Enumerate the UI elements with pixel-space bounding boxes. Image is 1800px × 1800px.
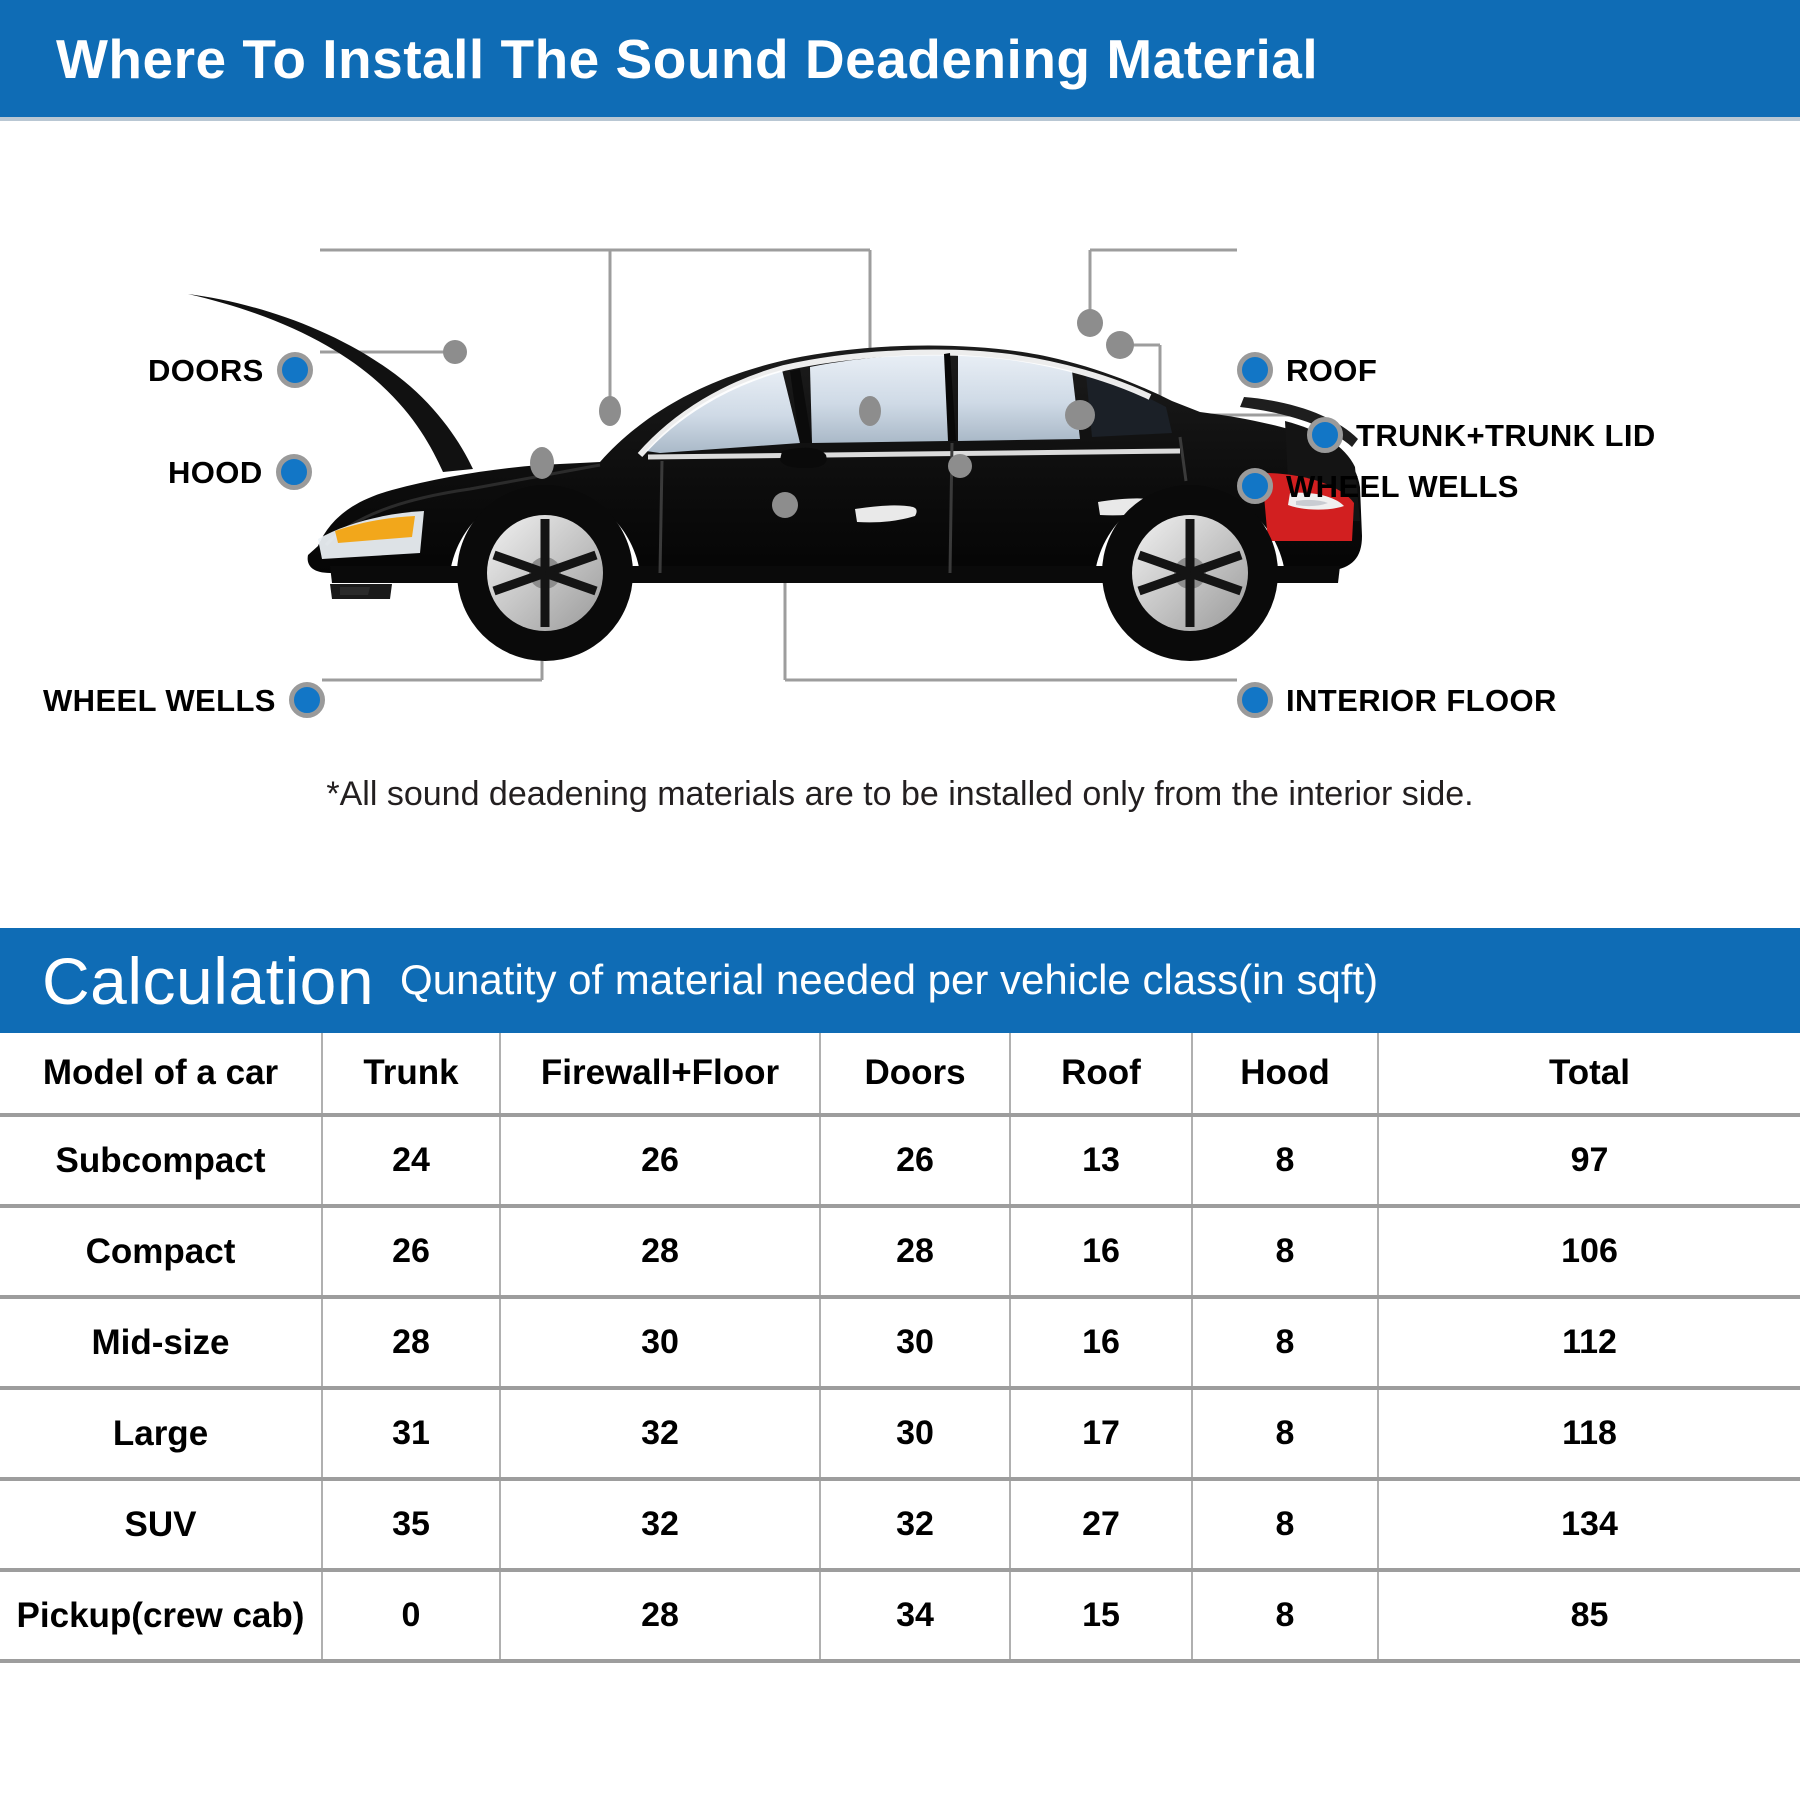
cell-doors: 34 xyxy=(820,1570,1010,1661)
table-row: Mid-size 28 30 30 16 8 112 xyxy=(0,1297,1800,1388)
table-row: Subcompact 24 26 26 13 8 97 xyxy=(0,1115,1800,1206)
cell-total: 112 xyxy=(1378,1297,1800,1388)
cell-total: 85 xyxy=(1378,1570,1800,1661)
cell-model: Pickup(crew cab) xyxy=(0,1570,322,1661)
cell-roof: 16 xyxy=(1010,1206,1192,1297)
cell-doors: 28 xyxy=(820,1206,1010,1297)
col-header-doors: Doors xyxy=(820,1033,1010,1115)
cell-hood: 8 xyxy=(1192,1206,1378,1297)
callout-trunk-label: TRUNK+TRUNK LID xyxy=(1356,420,1656,451)
cell-hood: 8 xyxy=(1192,1115,1378,1206)
marker-dot-icon xyxy=(276,454,312,490)
cell-doors: 32 xyxy=(820,1479,1010,1570)
marker-dot-icon xyxy=(1237,468,1273,504)
callout-doors-label: DOORS xyxy=(148,355,264,386)
calculation-subtitle: Qunatity of material needed per vehicle … xyxy=(374,956,1378,1006)
col-header-trunk: Trunk xyxy=(322,1033,500,1115)
calculation-title: Calculation xyxy=(0,943,374,1019)
callout-wheel-wells-left[interactable]: WHEEL WELLS xyxy=(43,682,325,718)
cell-firewall-floor: 28 xyxy=(500,1206,820,1297)
callout-roof[interactable]: ROOF xyxy=(1237,352,1377,388)
cell-total: 97 xyxy=(1378,1115,1800,1206)
callout-trunk[interactable]: TRUNK+TRUNK LID xyxy=(1307,417,1656,453)
cell-total: 134 xyxy=(1378,1479,1800,1570)
marker-dot-icon xyxy=(1307,417,1343,453)
col-header-firewall-floor: Firewall+Floor xyxy=(500,1033,820,1115)
front-wheel xyxy=(457,485,633,661)
cell-roof: 27 xyxy=(1010,1479,1192,1570)
cell-trunk: 26 xyxy=(322,1206,500,1297)
cell-hood: 8 xyxy=(1192,1570,1378,1661)
cell-model: Large xyxy=(0,1388,322,1479)
marker-dot-icon xyxy=(1237,352,1273,388)
col-header-model: Model of a car xyxy=(0,1033,322,1115)
cell-total: 118 xyxy=(1378,1388,1800,1479)
cell-firewall-floor: 32 xyxy=(500,1388,820,1479)
cell-firewall-floor: 30 xyxy=(500,1297,820,1388)
cell-roof: 17 xyxy=(1010,1388,1192,1479)
cell-roof: 16 xyxy=(1010,1297,1192,1388)
cell-doors: 30 xyxy=(820,1388,1010,1479)
callout-roof-label: ROOF xyxy=(1286,355,1377,386)
callout-interior-floor-label: INTERIOR FLOOR xyxy=(1286,685,1557,716)
table-row: Pickup(crew cab) 0 28 34 15 8 85 xyxy=(0,1570,1800,1661)
marker-dot-icon xyxy=(289,682,325,718)
table-row: Large 31 32 30 17 8 118 xyxy=(0,1388,1800,1479)
marker-dot-icon xyxy=(1237,682,1273,718)
cell-model: Subcompact xyxy=(0,1115,322,1206)
cell-model: Mid-size xyxy=(0,1297,322,1388)
callout-wheel-wells-right-label: WHEEL WELLS xyxy=(1286,471,1519,502)
car-diagram: DOORS HOOD WHEEL WELLS ROOF TRUNK+TRUNK … xyxy=(0,121,1800,801)
callout-wheel-wells-right[interactable]: WHEEL WELLS xyxy=(1237,468,1519,504)
callout-hood-label: HOOD xyxy=(168,457,263,488)
cell-model: Compact xyxy=(0,1206,322,1297)
table-row: Compact 26 28 28 16 8 106 xyxy=(0,1206,1800,1297)
cell-trunk: 35 xyxy=(322,1479,500,1570)
cell-firewall-floor: 32 xyxy=(500,1479,820,1570)
cell-trunk: 31 xyxy=(322,1388,500,1479)
col-header-hood: Hood xyxy=(1192,1033,1378,1115)
page-title: Where To Install The Sound Deadening Mat… xyxy=(0,27,1318,91)
installation-footnote: *All sound deadening materials are to be… xyxy=(0,775,1800,814)
cell-hood: 8 xyxy=(1192,1297,1378,1388)
callout-interior-floor[interactable]: INTERIOR FLOOR xyxy=(1237,682,1557,718)
callout-hood[interactable]: HOOD xyxy=(168,454,312,490)
calculation-banner: Calculation Qunatity of material needed … xyxy=(0,928,1800,1033)
cell-roof: 13 xyxy=(1010,1115,1192,1206)
table-row: SUV 35 32 32 27 8 134 xyxy=(0,1479,1800,1570)
col-header-roof: Roof xyxy=(1010,1033,1192,1115)
cell-trunk: 28 xyxy=(322,1297,500,1388)
marker-dot-icon xyxy=(277,352,313,388)
cell-trunk: 24 xyxy=(322,1115,500,1206)
rear-wheel xyxy=(1102,485,1278,661)
cell-model: SUV xyxy=(0,1479,322,1570)
cell-doors: 26 xyxy=(820,1115,1010,1206)
callout-wheel-wells-left-label: WHEEL WELLS xyxy=(43,685,276,716)
cell-hood: 8 xyxy=(1192,1479,1378,1570)
page-header-banner: Where To Install The Sound Deadening Mat… xyxy=(0,0,1800,117)
cell-hood: 8 xyxy=(1192,1388,1378,1479)
cell-firewall-floor: 26 xyxy=(500,1115,820,1206)
col-header-total: Total xyxy=(1378,1033,1800,1115)
cell-doors: 30 xyxy=(820,1297,1010,1388)
cell-firewall-floor: 28 xyxy=(500,1570,820,1661)
table-header-row: Model of a car Trunk Firewall+Floor Door… xyxy=(0,1033,1800,1115)
car-body xyxy=(308,345,1362,661)
cell-total: 106 xyxy=(1378,1206,1800,1297)
cell-trunk: 0 xyxy=(322,1570,500,1661)
cell-roof: 15 xyxy=(1010,1570,1192,1661)
callout-doors[interactable]: DOORS xyxy=(148,352,313,388)
material-quantity-table: Model of a car Trunk Firewall+Floor Door… xyxy=(0,1033,1800,1663)
